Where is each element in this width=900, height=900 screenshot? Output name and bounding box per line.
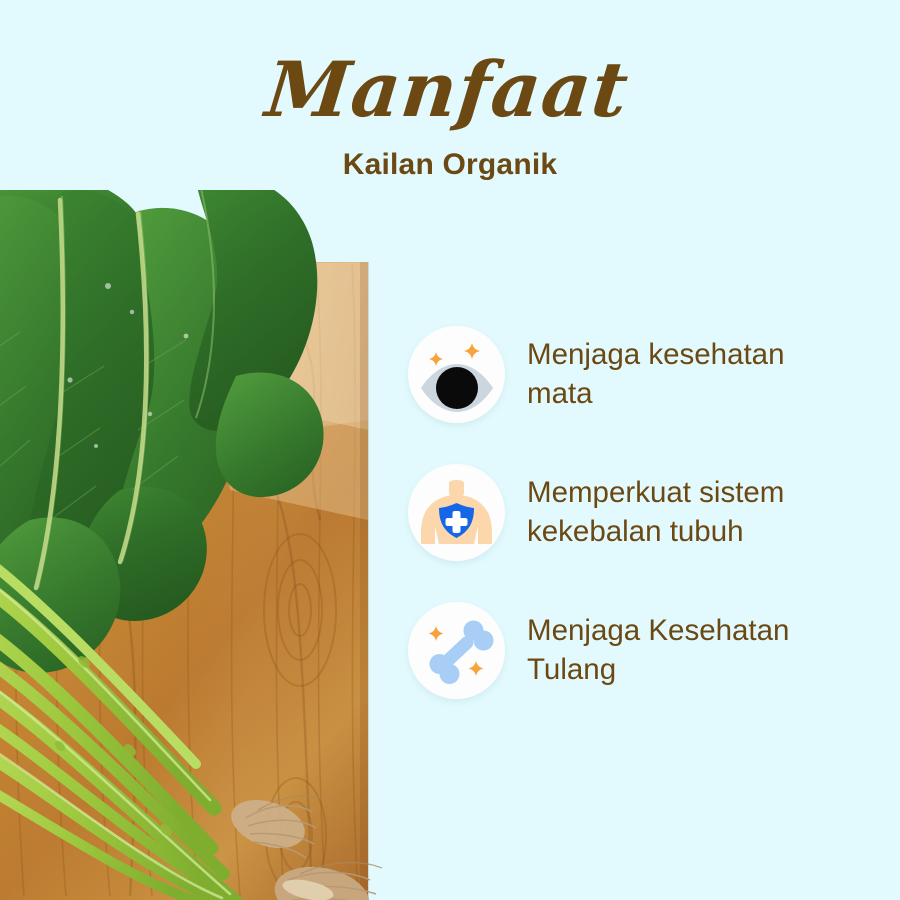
- eye-pupil: [436, 367, 478, 409]
- benefit-label: Menjaga Kesehatan Tulang: [527, 612, 857, 690]
- benefit-label: Memperkuat sistem kekebalan tubuh: [527, 474, 857, 552]
- page-subtitle: Kailan Organik: [0, 128, 900, 180]
- sparkle-icon: [429, 626, 444, 641]
- eye-icon-badge: [408, 326, 505, 423]
- benefit-item-eye: Menjaga kesehatan mata: [408, 326, 878, 423]
- sparkle-icon: [464, 343, 480, 359]
- header: Manfaat Kailan Organik: [0, 0, 900, 180]
- benefit-label: Menjaga kesehatan mata: [527, 336, 857, 414]
- eye-icon: [408, 326, 505, 423]
- kailan-photo: [0, 190, 392, 900]
- bone-icon: [408, 602, 505, 699]
- kailan-photo-illustration: [0, 190, 392, 900]
- page-title: Manfaat: [0, 0, 900, 128]
- sparkle-icon: [429, 352, 443, 366]
- poster-canvas: Manfaat Kailan Organik: [0, 0, 900, 900]
- bone-shape: [430, 621, 494, 685]
- benefits-list: Menjaga kesehatan mata: [408, 326, 878, 699]
- benefit-item-immunity: Memperkuat sistem kekebalan tubuh: [408, 464, 878, 561]
- bone-icon-badge: [408, 602, 505, 699]
- immunity-icon-badge: [408, 464, 505, 561]
- benefit-item-bone: Menjaga Kesehatan Tulang: [408, 602, 878, 699]
- immunity-shield-body-icon: [408, 464, 505, 561]
- sparkle-icon: [469, 661, 484, 676]
